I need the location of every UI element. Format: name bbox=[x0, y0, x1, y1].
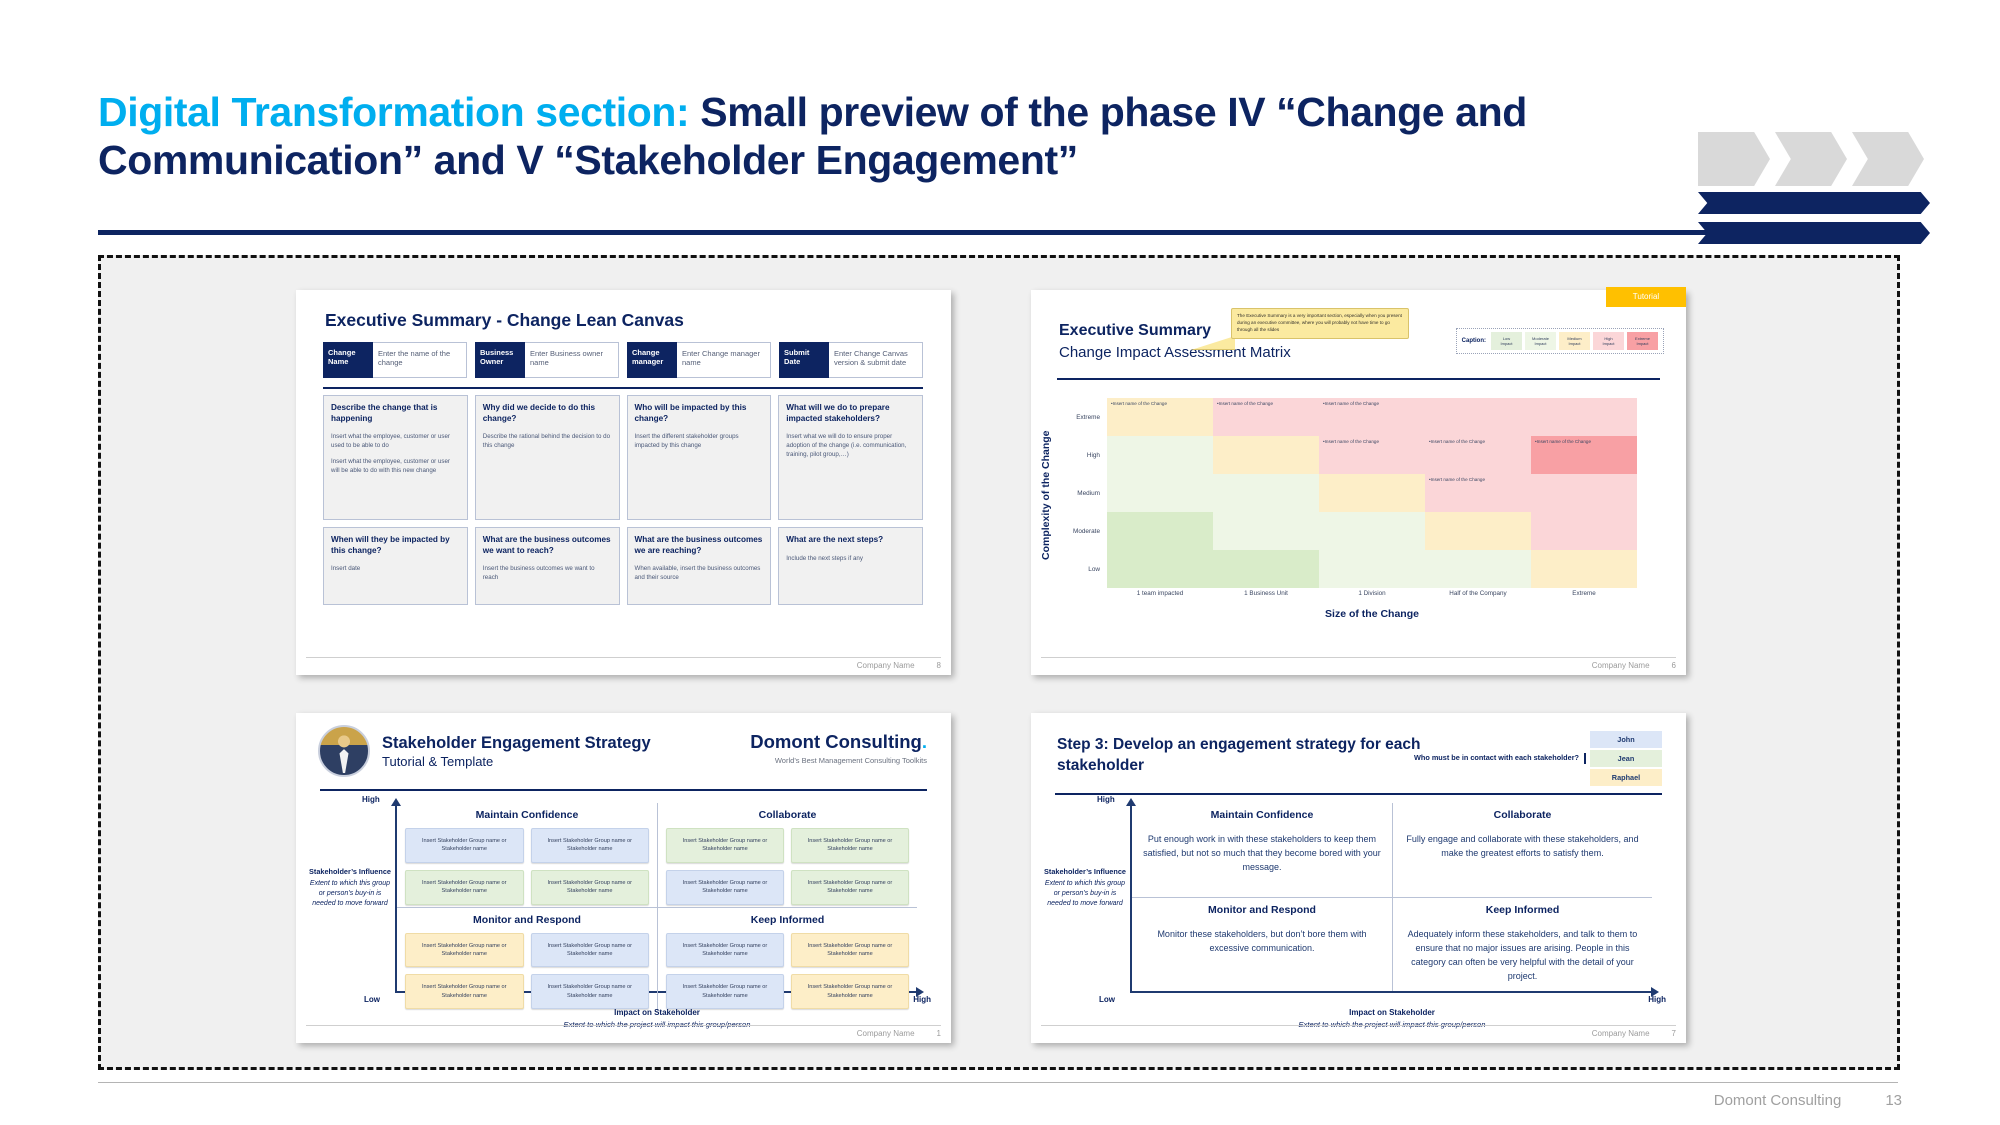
y-axis-title: Stakeholder’s Influence bbox=[309, 867, 391, 876]
legend-label: Caption: bbox=[1462, 338, 1486, 344]
y-axis-caption: Stakeholder’s Influence Extent to which … bbox=[1043, 867, 1127, 909]
canvas-cell[interactable]: Describe the change that is happeningIns… bbox=[323, 395, 468, 520]
who-contact-legend: Who must be in contact with each stakeho… bbox=[1414, 731, 1662, 786]
footer-page: 1 bbox=[937, 1029, 941, 1038]
y-axis-caption: Stakeholder’s Influence Extent to which … bbox=[308, 867, 392, 909]
matrix-cell[interactable]: •Insert name of the Change bbox=[1213, 398, 1319, 436]
quadrant-title: Monitor and Respond bbox=[1140, 904, 1384, 916]
matrix-cell[interactable] bbox=[1531, 512, 1637, 550]
canvas-cell[interactable]: Why did we decide to do this change?Desc… bbox=[475, 395, 620, 520]
matrix-cell[interactable] bbox=[1107, 550, 1213, 588]
card-c-header: Stakeholder Engagement Strategy Tutorial… bbox=[318, 725, 651, 777]
canvas-cell-heading: What are the business outcomes we want t… bbox=[483, 535, 612, 556]
quadrant-title: Maintain Confidence bbox=[405, 809, 649, 821]
canvas-cell-heading: Describe the change that is happening bbox=[331, 403, 460, 424]
chevron-icon bbox=[1775, 132, 1847, 186]
card-c-title: Stakeholder Engagement Strategy bbox=[382, 734, 651, 753]
quadrant: Monitor and RespondMonitor these stakeho… bbox=[1132, 897, 1392, 991]
matrix-legend: Caption: LowImpactModerateImpactMediumIm… bbox=[1456, 328, 1664, 354]
card-a-title: Executive Summary - Change Lean Canvas bbox=[325, 310, 684, 331]
card-a-footer: Company Name 8 bbox=[306, 657, 941, 670]
quadrant: Keep InformedAdequately inform these sta… bbox=[1392, 897, 1652, 991]
chevron-icon bbox=[1698, 132, 1770, 186]
matrix-cell[interactable] bbox=[1531, 550, 1637, 588]
meta-field-value[interactable]: Enter the name of the change bbox=[373, 342, 467, 378]
meta-field-value[interactable]: Enter Change manager name bbox=[677, 342, 771, 378]
card-c-footer: Company Name 1 bbox=[306, 1025, 941, 1038]
meta-field[interactable]: Change NameEnter the name of the change bbox=[323, 342, 467, 378]
canvas-cell-heading: What are the next steps? bbox=[786, 535, 915, 546]
quadrant: Keep InformedInsert Stakeholder Group na… bbox=[657, 907, 917, 1012]
who-contact-question: Who must be in contact with each stakeho… bbox=[1414, 753, 1586, 764]
slide-preview-change-lean-canvas[interactable]: Executive Summary - Change Lean Canvas C… bbox=[296, 290, 951, 675]
footer-company: Company Name bbox=[1592, 661, 1650, 670]
card-d-title: Step 3: Develop an engagement strategy f… bbox=[1057, 735, 1457, 777]
matrix-cell[interactable] bbox=[1213, 474, 1319, 512]
brand-block: Domont Consulting. World’s Best Manageme… bbox=[750, 731, 927, 765]
matrix-cell[interactable] bbox=[1531, 398, 1637, 436]
stakeholder-chip[interactable]: Insert Stakeholder Group name or Stakeho… bbox=[405, 974, 524, 1009]
footer-page: 7 bbox=[1672, 1029, 1676, 1038]
matrix-cell[interactable]: •Insert name of the Change bbox=[1319, 398, 1425, 436]
y-axis-description: Extent to which this group or person’s b… bbox=[1043, 879, 1127, 908]
stakeholder-chip[interactable]: Insert Stakeholder Group name or Stakeho… bbox=[531, 870, 650, 905]
matrix-x-tick: 1 team impacted bbox=[1107, 590, 1213, 597]
quadrant-title: Collaborate bbox=[1401, 809, 1644, 821]
matrix-y-tick: High bbox=[1057, 436, 1105, 474]
canvas-cell-text: Insert the business outcomes we want to … bbox=[483, 565, 612, 583]
card-d-quadrant-chart: High Low High Stakeholder’s Influence Ex… bbox=[1055, 799, 1662, 1005]
matrix-cells: •Insert name of the Change•Insert name o… bbox=[1107, 398, 1637, 588]
canvas-cell[interactable]: When will they be impacted by this chang… bbox=[323, 527, 468, 605]
canvas-cell-heading: When will they be impacted by this chang… bbox=[331, 535, 460, 556]
footer-page: 8 bbox=[937, 661, 941, 670]
matrix-cell[interactable] bbox=[1425, 398, 1531, 436]
legend-chip-line2: Impact bbox=[1491, 341, 1522, 346]
footer-page: 6 bbox=[1672, 661, 1676, 670]
quadrant-description: Adequately inform these stakeholders, an… bbox=[1401, 928, 1644, 984]
quadrant: Monitor and RespondInsert Stakeholder Gr… bbox=[397, 907, 657, 1012]
footer-brand: Domont Consulting bbox=[1714, 1092, 1842, 1109]
canvas-cell-text: Insert what the employee, customer or us… bbox=[331, 458, 460, 476]
preview-area: Executive Summary - Change Lean Canvas C… bbox=[98, 255, 1900, 1070]
canvas-cell-text: Insert the different stakeholder groups … bbox=[635, 433, 764, 451]
canvas-cell-heading: What are the business outcomes we are re… bbox=[635, 535, 764, 556]
card-c-divider bbox=[320, 789, 927, 791]
slide-preview-change-impact-matrix[interactable]: Tutorial The Executive Summary is a very… bbox=[1031, 290, 1686, 675]
canvas-cell[interactable]: What are the business outcomes we are re… bbox=[627, 527, 772, 605]
canvas-cell-text: Insert what we will do to ensure proper … bbox=[786, 433, 915, 460]
stakeholder-chip-grid: Insert Stakeholder Group name or Stakeho… bbox=[405, 828, 649, 905]
stakeholder-chip[interactable]: Insert Stakeholder Group name or Stakeho… bbox=[666, 828, 784, 863]
stakeholder-chip[interactable]: Insert Stakeholder Group name or Stakeho… bbox=[405, 870, 524, 905]
legend-chip-line2: Impact bbox=[1627, 341, 1658, 346]
avatar bbox=[318, 725, 370, 777]
matrix-y-tick: Medium bbox=[1057, 474, 1105, 512]
canvas-cell-text: Include the next steps if any bbox=[786, 555, 915, 564]
canvas-cell[interactable]: What are the next steps?Include the next… bbox=[778, 527, 923, 605]
stakeholder-chip[interactable]: Insert Stakeholder Group name or Stakeho… bbox=[666, 933, 784, 968]
canvas-cell-text: When available, insert the business outc… bbox=[635, 565, 764, 583]
y-axis-description: Extent to which this group or person’s b… bbox=[308, 879, 392, 908]
legend-chip-line2: Impact bbox=[1593, 341, 1624, 346]
meta-field[interactable]: Submit DateEnter Change Canvas version &… bbox=[779, 342, 923, 378]
matrix-cell[interactable]: •Insert name of the Change bbox=[1531, 436, 1637, 474]
legend-chip: ModerateImpact bbox=[1525, 332, 1556, 350]
slide-footer: Domont Consulting 13 bbox=[1714, 1092, 1902, 1109]
canvas-cell-text: Insert date bbox=[331, 565, 460, 574]
stakeholder-chip[interactable]: Insert Stakeholder Group name or Stakeho… bbox=[405, 828, 524, 863]
who-contact-person[interactable]: John bbox=[1590, 731, 1662, 748]
canvas-cell-text: Insert what the employee, customer or us… bbox=[331, 433, 460, 451]
meta-field-label: Change Name bbox=[323, 342, 373, 378]
chevron-icon bbox=[1852, 132, 1924, 186]
matrix-cell[interactable] bbox=[1425, 512, 1531, 550]
matrix-cell[interactable] bbox=[1531, 474, 1637, 512]
quadrant: Maintain ConfidenceInsert Stakeholder Gr… bbox=[397, 803, 657, 907]
matrix-cell[interactable] bbox=[1107, 474, 1213, 512]
quadrant: CollaborateInsert Stakeholder Group name… bbox=[657, 803, 917, 907]
matrix-cell[interactable] bbox=[1107, 436, 1213, 474]
slide-preview-step3-engagement-strategy[interactable]: Step 3: Develop an engagement strategy f… bbox=[1031, 713, 1686, 1043]
y-axis-high-label: High bbox=[362, 795, 380, 804]
stakeholder-chip[interactable]: Insert Stakeholder Group name or Stakeho… bbox=[666, 974, 784, 1009]
matrix-cell[interactable] bbox=[1319, 550, 1425, 588]
footer-page-number: 13 bbox=[1885, 1092, 1902, 1109]
matrix-cell[interactable] bbox=[1425, 550, 1531, 588]
quadrant-title: Keep Informed bbox=[666, 914, 909, 926]
meta-field-label: Submit Date bbox=[779, 342, 829, 378]
matrix-x-axis-label: Size of the Change bbox=[1107, 608, 1637, 620]
legend-chip: MediumImpact bbox=[1559, 332, 1590, 350]
quadrant: Maintain ConfidencePut enough work in wi… bbox=[1132, 803, 1392, 897]
meta-field-label: Business Owner bbox=[475, 342, 525, 378]
card-b-divider bbox=[1057, 378, 1660, 380]
matrix-cell[interactable] bbox=[1213, 436, 1319, 474]
quadrant-description: Monitor these stakeholders, but don’t bo… bbox=[1140, 928, 1384, 956]
quadrant-description: Put enough work in with these stakeholde… bbox=[1140, 833, 1384, 875]
matrix-cell[interactable]: •Insert name of the Change bbox=[1107, 398, 1213, 436]
quadrant-description: Fully engage and collaborate with these … bbox=[1401, 833, 1644, 861]
canvas-cell[interactable]: What are the business outcomes we want t… bbox=[475, 527, 620, 605]
stakeholder-chip[interactable]: Insert Stakeholder Group name or Stakeho… bbox=[531, 828, 650, 863]
card-a-grid: Describe the change that is happeningIns… bbox=[323, 395, 923, 605]
legend-chip-line2: Impact bbox=[1559, 341, 1590, 346]
y-axis-title: Stakeholder’s Influence bbox=[1044, 867, 1126, 876]
canvas-cell[interactable]: Who will be impacted by this change?Inse… bbox=[627, 395, 772, 520]
meta-field-label: Change manager bbox=[627, 342, 677, 378]
card-b-subtitle: Change Impact Assessment Matrix bbox=[1059, 344, 1291, 361]
x-axis-title: Impact on Stakeholder bbox=[1349, 1008, 1435, 1017]
brand-dot: . bbox=[922, 731, 927, 752]
matrix-x-tick: Extreme bbox=[1531, 590, 1637, 597]
card-b-title: Executive Summary bbox=[1059, 322, 1211, 340]
canvas-cell[interactable]: What will we do to prepare impacted stak… bbox=[778, 395, 923, 520]
card-a-meta-row: Change NameEnter the name of the changeB… bbox=[323, 342, 923, 378]
y-axis-high-label: High bbox=[1097, 795, 1115, 804]
legend-chip: LowImpact bbox=[1491, 332, 1522, 350]
tutorial-badge[interactable]: Tutorial bbox=[1606, 287, 1686, 307]
quadrant: CollaborateFully engage and collaborate … bbox=[1392, 803, 1652, 897]
matrix-x-tick: Half of the Company bbox=[1425, 590, 1531, 597]
brand-name: Domont Consulting bbox=[750, 731, 922, 752]
matrix-x-tick: 1 Division bbox=[1319, 590, 1425, 597]
stakeholder-chip-grid: Insert Stakeholder Group name or Stakeho… bbox=[405, 933, 649, 1010]
card-c-quadrant-chart: High Low High Stakeholder’s Influence Ex… bbox=[320, 799, 927, 1005]
matrix-y-axis-label: Complexity of the Change bbox=[1037, 400, 1055, 590]
footer-company: Company Name bbox=[857, 1029, 915, 1038]
meta-field-value[interactable]: Enter Change Canvas version & submit dat… bbox=[829, 342, 923, 378]
chevron-decoration bbox=[1698, 132, 1924, 186]
quadrant-title: Maintain Confidence bbox=[1140, 809, 1384, 821]
stakeholder-chip[interactable]: Insert Stakeholder Group name or Stakeho… bbox=[791, 974, 909, 1009]
matrix-cell[interactable] bbox=[1319, 474, 1425, 512]
canvas-cell-text: Describe the rational behind the decisio… bbox=[483, 433, 612, 451]
matrix-cell[interactable] bbox=[1319, 512, 1425, 550]
page-title-accent: Digital Transformation section: bbox=[98, 89, 700, 135]
x-axis-title: Impact on Stakeholder bbox=[614, 1008, 700, 1017]
legend-chip: HighImpact bbox=[1593, 332, 1624, 350]
page-title: Digital Transformation section: Small pr… bbox=[98, 88, 1688, 185]
card-d-divider bbox=[1055, 793, 1662, 795]
footer-company: Company Name bbox=[857, 661, 915, 670]
stakeholder-chip[interactable]: Insert Stakeholder Group name or Stakeho… bbox=[791, 933, 909, 968]
x-axis-low-label: Low bbox=[1099, 995, 1115, 1004]
brand-tagline: World’s Best Management Consulting Toolk… bbox=[750, 756, 927, 765]
matrix-y-tick: Moderate bbox=[1057, 512, 1105, 550]
x-axis-high-label: High bbox=[1648, 995, 1666, 1004]
matrix-x-ticks: 1 team impacted1 Business Unit1 Division… bbox=[1107, 590, 1637, 597]
who-contact-person[interactable]: Jean bbox=[1590, 750, 1662, 767]
canvas-cell-heading: Who will be impacted by this change? bbox=[635, 403, 764, 424]
matrix-y-tick: Extreme bbox=[1057, 398, 1105, 436]
quadrant-title: Monitor and Respond bbox=[405, 914, 649, 926]
matrix-cell[interactable] bbox=[1213, 550, 1319, 588]
card-b-footer: Company Name 6 bbox=[1041, 657, 1676, 670]
slide-preview-stakeholder-engagement-strategy[interactable]: Stakeholder Engagement Strategy Tutorial… bbox=[296, 713, 951, 1043]
matrix-cell[interactable]: •Insert name of the Change bbox=[1319, 436, 1425, 474]
x-axis-line bbox=[1130, 991, 1652, 993]
stakeholder-chip-grid: Insert Stakeholder Group name or Stakeho… bbox=[666, 933, 909, 1010]
stakeholder-chip-grid: Insert Stakeholder Group name or Stakeho… bbox=[666, 828, 909, 905]
legend-chip: ExtremeImpact bbox=[1627, 332, 1658, 350]
who-contact-person[interactable]: Raphael bbox=[1590, 769, 1662, 786]
stakeholder-chip[interactable]: Insert Stakeholder Group name or Stakeho… bbox=[791, 828, 909, 863]
navy-arrow-bar bbox=[1698, 192, 1930, 214]
matrix-y-tick: Low bbox=[1057, 550, 1105, 588]
matrix-x-tick: 1 Business Unit bbox=[1213, 590, 1319, 597]
quadrant-title: Keep Informed bbox=[1401, 904, 1644, 916]
canvas-cell-heading: Why did we decide to do this change? bbox=[483, 403, 612, 424]
stakeholder-chip[interactable]: Insert Stakeholder Group name or Stakeho… bbox=[666, 870, 784, 905]
matrix-cell[interactable]: •Insert name of the Change bbox=[1425, 474, 1531, 512]
card-d-footer: Company Name 7 bbox=[1041, 1025, 1676, 1038]
card-c-subtitle: Tutorial & Template bbox=[382, 754, 651, 769]
matrix-cell[interactable] bbox=[1107, 512, 1213, 550]
x-axis-low-label: Low bbox=[364, 995, 380, 1004]
matrix-y-ticks: ExtremeHighMediumModerateLow bbox=[1057, 398, 1105, 588]
title-divider bbox=[98, 230, 1898, 235]
quadrant-title: Collaborate bbox=[666, 809, 909, 821]
canvas-cell-heading: What will we do to prepare impacted stak… bbox=[786, 403, 915, 424]
tutorial-callout: The Executive Summary is a very importan… bbox=[1231, 308, 1409, 339]
meta-field-value[interactable]: Enter Business owner name bbox=[525, 342, 619, 378]
meta-field[interactable]: Business OwnerEnter Business owner name bbox=[475, 342, 619, 378]
footer-company: Company Name bbox=[1592, 1029, 1650, 1038]
stakeholder-chip[interactable]: Insert Stakeholder Group name or Stakeho… bbox=[531, 974, 650, 1009]
legend-chip-line2: Impact bbox=[1525, 341, 1556, 346]
stakeholder-chip[interactable]: Insert Stakeholder Group name or Stakeho… bbox=[405, 933, 524, 968]
footer-divider bbox=[98, 1082, 1898, 1083]
navy-arrow-bar bbox=[1698, 222, 1930, 244]
matrix-cell[interactable]: •Insert name of the Change bbox=[1425, 436, 1531, 474]
meta-field[interactable]: Change managerEnter Change manager name bbox=[627, 342, 771, 378]
card-a-divider bbox=[323, 387, 923, 389]
matrix-cell[interactable] bbox=[1213, 512, 1319, 550]
stakeholder-chip[interactable]: Insert Stakeholder Group name or Stakeho… bbox=[791, 870, 909, 905]
stakeholder-chip[interactable]: Insert Stakeholder Group name or Stakeho… bbox=[531, 933, 650, 968]
